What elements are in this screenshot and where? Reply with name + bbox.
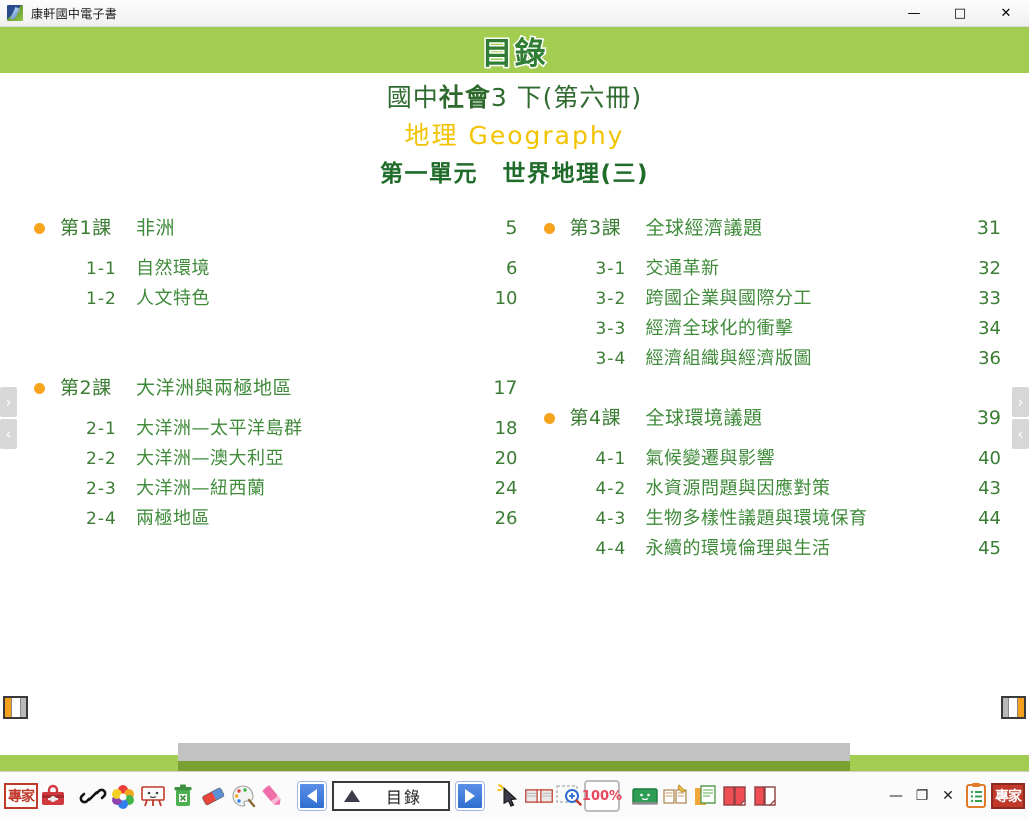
toc-lesson-block: 第1課 非洲 5 1-1 自然環境 6 1-2 人文特色 10 <box>34 214 518 304</box>
subtitle-book-subject: 社會 <box>439 83 491 112</box>
section-title: 自然環境 <box>136 260 478 278</box>
chevron-right-icon[interactable]: › <box>0 387 17 417</box>
bullet-cell <box>544 244 570 274</box>
book-spread-button[interactable] <box>524 776 554 816</box>
section-page: 45 <box>961 540 1001 558</box>
section-number: 4-3 <box>570 511 646 528</box>
lesson-title: 全球經濟議題 <box>646 219 962 238</box>
section-title: 生物多樣性議題與環境保育 <box>646 510 962 528</box>
palette-icon <box>228 781 258 811</box>
bullet-cell <box>34 434 60 464</box>
next-page-icon <box>456 782 484 810</box>
whiteboard-button[interactable] <box>138 776 168 816</box>
toc-lesson-row[interactable]: 第4課 全球環境議題 39 <box>544 404 1002 434</box>
book-spread-icon <box>524 781 554 811</box>
lesson-title: 非洲 <box>136 219 478 238</box>
bullet-cell <box>544 274 570 304</box>
page-indicator[interactable]: 目錄 <box>332 781 450 811</box>
blackboard-button[interactable] <box>630 776 660 816</box>
subtitle-subject: 地理 Geography <box>0 117 1029 155</box>
lesson-number: 第3課 <box>570 219 646 238</box>
expert-mode-left-button[interactable]: 專家 <box>4 776 38 816</box>
blackboard-icon <box>630 781 660 811</box>
ebook-icon <box>690 781 720 811</box>
notebook-button[interactable] <box>660 776 690 816</box>
whiteboard-icon <box>138 781 168 811</box>
section-number: 4-2 <box>570 481 646 498</box>
chevron-left-icon[interactable]: ‹ <box>1012 419 1029 449</box>
subtitle-book-volume: 下(第六冊) <box>508 83 642 112</box>
toc-lesson-block: 第4課 全球環境議題 39 4-1 氣候變遷與影響 40 4-2 水資源問題與因… <box>544 404 1002 554</box>
section-number: 3-2 <box>570 291 646 308</box>
ebook-button[interactable] <box>690 776 720 816</box>
section-title: 大洋洲—紐西蘭 <box>136 480 478 498</box>
magnifier-button[interactable] <box>554 776 584 816</box>
bullet-cell <box>544 304 570 334</box>
horizontal-scrollbar[interactable] <box>0 737 1029 771</box>
page-subtitles: 國中社會3 下(第六冊) 地理 Geography 第一單元 世界地理(三) <box>0 73 1029 192</box>
zoom-level-button[interactable]: 100% <box>584 776 620 816</box>
scrollbar-thumb-shadow <box>178 761 850 771</box>
toc-section-row[interactable]: 1-1 自然環境 6 <box>34 244 518 274</box>
section-number: 1-2 <box>60 291 136 308</box>
bullet-cell <box>544 524 570 554</box>
section-page: 40 <box>961 450 1001 468</box>
section-title: 水資源問題與因應對策 <box>646 480 962 498</box>
trash-icon <box>168 781 198 811</box>
page-corner-left-icon[interactable] <box>3 696 28 719</box>
one-page-view-button[interactable] <box>750 776 780 816</box>
bullet-cell <box>34 274 60 304</box>
chevron-left-icon[interactable]: ‹ <box>0 419 17 449</box>
section-number: 2-2 <box>60 451 136 468</box>
lesson-number: 第2課 <box>60 379 136 398</box>
palette-button[interactable] <box>228 776 258 816</box>
section-title: 經濟全球化的衝擊 <box>646 320 962 338</box>
window-controls: — □ ✕ <box>891 0 1029 26</box>
eraser-button[interactable] <box>198 776 228 816</box>
two-page-view-button[interactable] <box>720 776 750 816</box>
pointer-icon <box>494 781 524 811</box>
window-titlebar: 康軒國中電子書 — □ ✕ <box>0 0 1029 27</box>
notebook-icon <box>660 781 690 811</box>
color-wheel-button[interactable] <box>108 776 138 816</box>
section-page: 26 <box>478 510 518 528</box>
bullet-dot-icon <box>544 223 555 234</box>
toc-lesson-row[interactable]: 第3課 全球經濟議題 31 <box>544 214 1002 244</box>
highlighter-button[interactable] <box>258 776 288 816</box>
section-page: 32 <box>961 260 1001 278</box>
bullet-dot-icon <box>34 383 45 394</box>
bullet-cell <box>34 374 60 404</box>
window-title: 康軒國中電子書 <box>31 5 117 22</box>
prev-page-icon <box>298 782 326 810</box>
section-title: 大洋洲—澳大利亞 <box>136 450 478 468</box>
section-number: 2-3 <box>60 481 136 498</box>
bullet-cell <box>34 404 60 434</box>
section-title: 交通革新 <box>646 260 962 278</box>
link-button[interactable] <box>78 776 108 816</box>
section-title: 跨國企業與國際分工 <box>646 290 962 308</box>
lesson-page: 5 <box>478 219 518 238</box>
link-icon <box>78 781 108 811</box>
toc-lesson-row[interactable]: 第2課 大洋洲與兩極地區 17 <box>34 374 518 404</box>
bullet-cell <box>544 464 570 494</box>
eraser-icon <box>198 781 228 811</box>
next-page-button[interactable] <box>456 776 484 816</box>
bullet-cell <box>544 214 570 244</box>
section-title: 經濟組織與經濟版圖 <box>646 350 962 368</box>
subtitle-book-prefix: 國中 <box>387 83 439 112</box>
clipboard-icon <box>961 781 991 811</box>
color-wheel-icon <box>108 781 138 811</box>
section-title: 大洋洲—太平洋島群 <box>136 420 478 438</box>
bullet-cell <box>34 494 60 524</box>
section-number: 3-3 <box>570 321 646 338</box>
section-title: 永續的環境倫理與生活 <box>646 540 962 558</box>
section-page: 20 <box>478 450 518 468</box>
section-number: 4-4 <box>570 541 646 558</box>
lesson-page: 39 <box>961 409 1001 428</box>
trash-button[interactable] <box>168 776 198 816</box>
page-banner: 目錄 <box>0 27 1029 73</box>
toolbar-minimize-button[interactable]: — <box>883 781 909 811</box>
section-page: 10 <box>478 290 518 308</box>
page-corner-right-icon[interactable] <box>1001 696 1026 719</box>
section-page: 18 <box>478 420 518 438</box>
toc-lesson-block: 第3課 全球經濟議題 31 3-1 交通革新 32 3-2 跨國企業與國際分工 … <box>544 214 1002 364</box>
one-page-icon <box>750 781 780 811</box>
pointer-button[interactable] <box>494 776 524 816</box>
expert-label: 專家 <box>991 783 1025 809</box>
section-number: 2-1 <box>60 421 136 438</box>
toc-section-row[interactable]: 2-1 大洋洲—太平洋島群 18 <box>34 404 518 434</box>
lesson-number: 第1課 <box>60 219 136 238</box>
page-label: 目錄 <box>370 784 438 808</box>
window-maximize-button[interactable]: □ <box>937 0 983 26</box>
expert-mode-right-button[interactable]: 專家 <box>991 776 1025 816</box>
section-number: 4-1 <box>570 451 646 468</box>
prev-page-button[interactable] <box>298 776 326 816</box>
left-side-tabs: › ‹ <box>0 387 17 451</box>
highlighter-icon <box>258 781 288 811</box>
toc-left-column: 第1課 非洲 5 1-1 自然環境 6 1-2 人文特色 10 <box>34 214 518 582</box>
bullet-cell <box>544 434 570 464</box>
clipboard-button[interactable] <box>961 776 991 816</box>
bullet-dot-icon <box>34 223 45 234</box>
toolbox-button[interactable] <box>38 776 68 816</box>
subtitle-unit: 第一單元 世界地理(三) <box>0 157 1029 192</box>
lesson-title: 全球環境議題 <box>646 409 962 428</box>
section-title: 人文特色 <box>136 290 478 308</box>
bullet-cell <box>544 494 570 524</box>
expert-label: 專家 <box>4 783 38 809</box>
section-page: 36 <box>961 350 1001 368</box>
chevron-right-icon[interactable]: › <box>1012 387 1029 417</box>
magnifier-icon <box>554 781 584 811</box>
section-page: 44 <box>961 510 1001 528</box>
page-up-icon[interactable] <box>344 790 360 802</box>
bullet-cell <box>34 214 60 244</box>
bullet-cell <box>544 334 570 364</box>
section-page: 43 <box>961 480 1001 498</box>
ebook-page: 目錄 國中社會3 下(第六冊) 地理 Geography 第一單元 世界地理(三… <box>0 27 1029 737</box>
two-page-icon <box>720 781 750 811</box>
bullet-cell <box>34 464 60 494</box>
page-title: 目錄 <box>482 28 548 73</box>
lesson-title: 大洋洲與兩極地區 <box>136 379 478 398</box>
toolbox-icon <box>38 781 68 811</box>
zoom-level-label: 100% <box>584 780 620 812</box>
section-number: 3-4 <box>570 351 646 368</box>
section-page: 34 <box>961 320 1001 338</box>
section-number: 1-1 <box>60 261 136 278</box>
app-logo-icon <box>7 5 23 21</box>
toolbar-restore-button[interactable]: ❐ <box>909 781 935 811</box>
lesson-page: 17 <box>478 379 518 398</box>
toc-right-column: 第3課 全球經濟議題 31 3-1 交通革新 32 3-2 跨國企業與國際分工 … <box>518 214 1002 582</box>
bullet-cell <box>34 244 60 274</box>
subtitle-book-grade: 3 <box>491 83 508 112</box>
section-number: 3-1 <box>570 261 646 278</box>
lesson-page: 31 <box>961 219 1001 238</box>
section-page: 6 <box>478 260 518 278</box>
section-page: 33 <box>961 290 1001 308</box>
toc-lesson-block: 第2課 大洋洲與兩極地區 17 2-1 大洋洲—太平洋島群 18 2-2 大洋洲… <box>34 374 518 524</box>
right-side-tabs: › ‹ <box>1012 387 1029 451</box>
section-page: 24 <box>478 480 518 498</box>
section-title: 氣候變遷與影響 <box>646 450 962 468</box>
subtitle-book: 國中社會3 下(第六冊) <box>0 81 1029 115</box>
toc-lesson-row[interactable]: 第1課 非洲 5 <box>34 214 518 244</box>
lesson-number: 第4課 <box>570 409 646 428</box>
table-of-contents: 第1課 非洲 5 1-1 自然環境 6 1-2 人文特色 10 <box>0 214 1029 582</box>
window-minimize-button[interactable]: — <box>891 0 937 26</box>
section-title: 兩極地區 <box>136 510 478 528</box>
bottom-toolbar: 專家 <box>0 771 1029 820</box>
window-close-button[interactable]: ✕ <box>983 0 1029 26</box>
section-number: 2-4 <box>60 511 136 528</box>
bullet-dot-icon <box>544 413 555 424</box>
toolbar-close-button[interactable]: ✕ <box>935 781 961 811</box>
bullet-cell <box>544 404 570 434</box>
toc-section-row[interactable]: 4-1 氣候變遷與影響 40 <box>544 434 1002 464</box>
toc-section-row[interactable]: 3-1 交通革新 32 <box>544 244 1002 274</box>
